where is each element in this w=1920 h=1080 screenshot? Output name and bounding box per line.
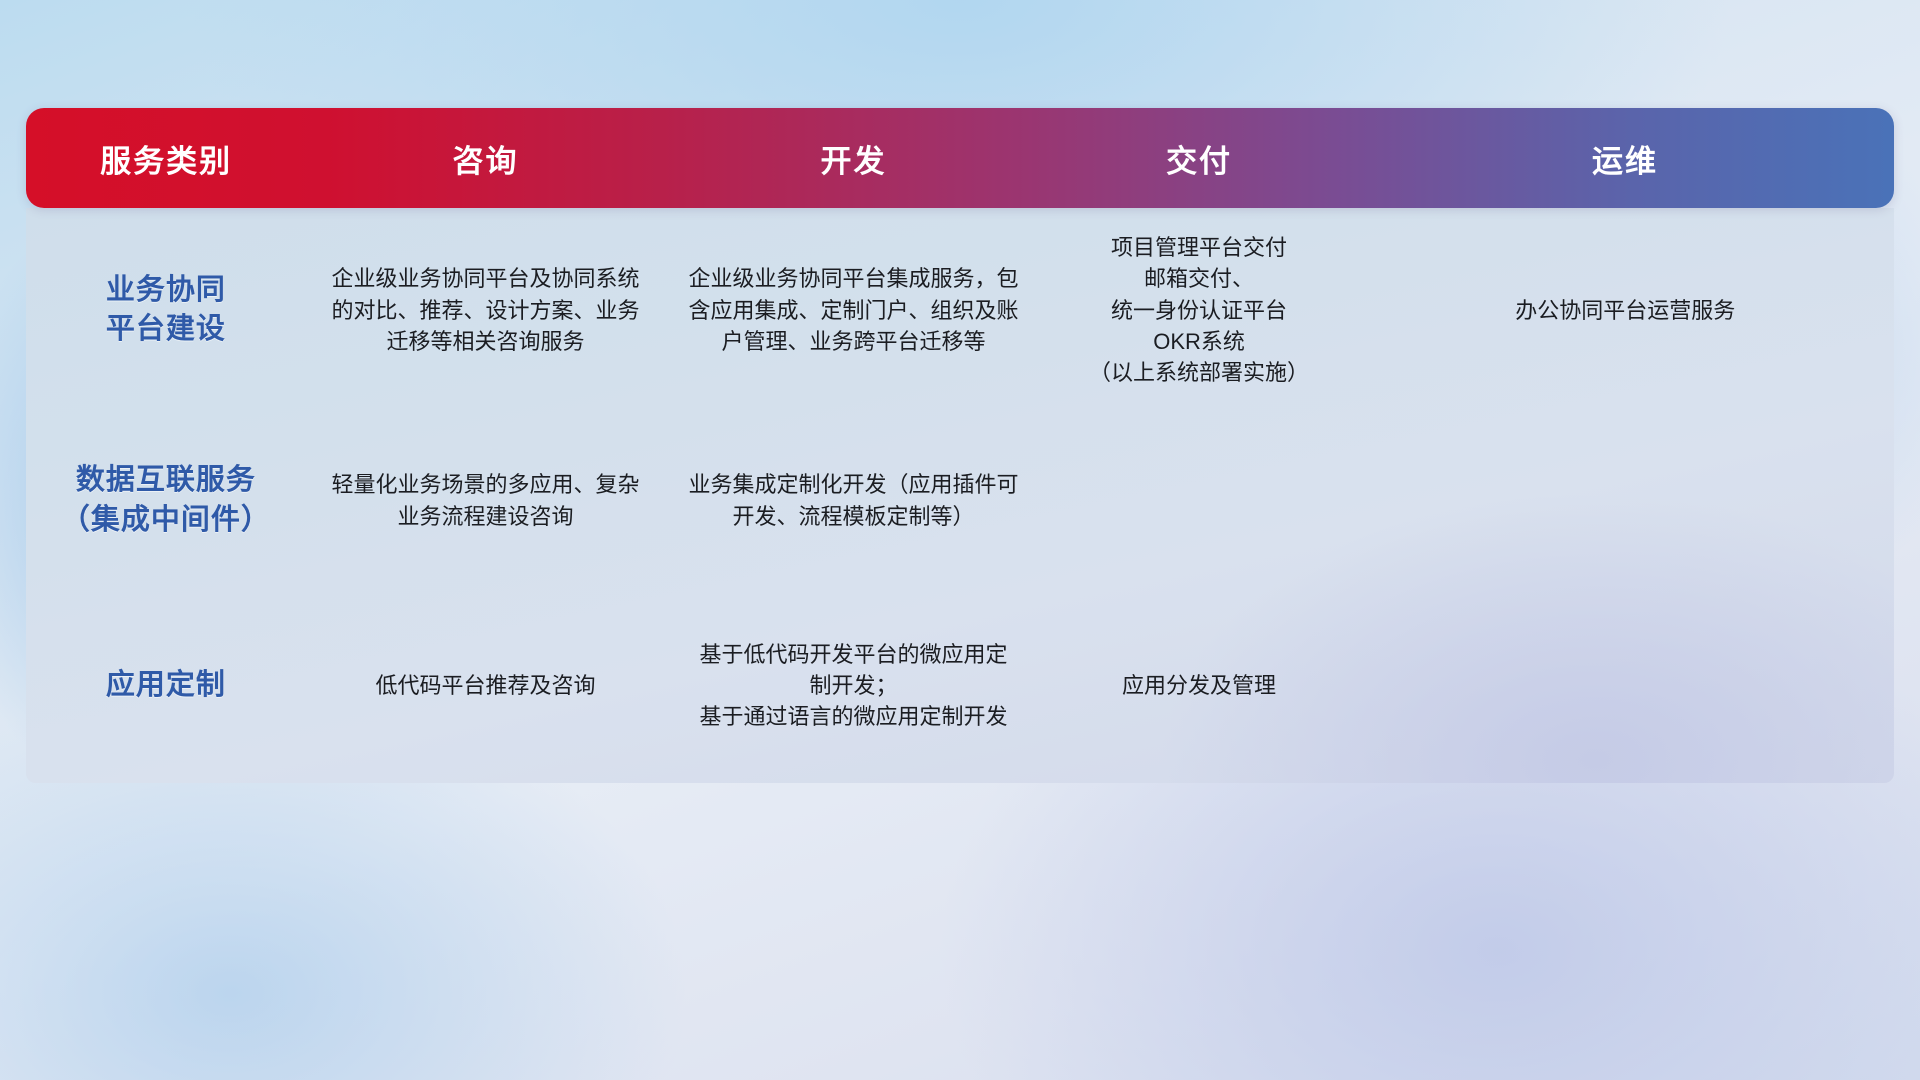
row-label: 应用定制 <box>106 669 226 701</box>
delivery-line-4: OKR系统 <box>1059 326 1340 357</box>
row-label-line-1: 业务协同 <box>42 271 290 310</box>
table-head: 服务类别 咨询 开发 交付 运维 <box>26 108 1894 208</box>
cell-delivery: 项目管理平台交付 邮箱交付、 统一身份认证平台 OKR系统 （以上系统部署实施） <box>1042 208 1356 413</box>
table-row: 应用定制 低代码平台推荐及咨询 基于低代码开发平台的微应用定 制开发； 基于通过… <box>26 588 1894 783</box>
delivery-line-2: 邮箱交付、 <box>1059 263 1340 294</box>
cell-consulting: 轻量化业务场景的多应用、复杂业务流程建设咨询 <box>306 413 665 588</box>
development-line-3: 基于通过语言的微应用定制开发 <box>681 701 1025 732</box>
cell-delivery: 应用分发及管理 <box>1042 588 1356 783</box>
row-label: 数据互联服务 （集成中间件） <box>42 461 290 539</box>
delivery-line-1: 项目管理平台交付 <box>1059 232 1340 263</box>
cell-development: 业务集成定制化开发（应用插件可开发、流程模板定制等） <box>665 413 1042 588</box>
development-line-1: 基于低代码开发平台的微应用定 <box>681 639 1025 670</box>
column-header-operations[interactable]: 运维 <box>1356 108 1894 208</box>
row-label-line-2: （集成中间件） <box>42 501 290 540</box>
table-row: 业务协同 平台建设 企业级业务协同平台及协同系统的对比、推荐、设计方案、业务迁移… <box>26 208 1894 413</box>
cell-operations <box>1356 413 1894 588</box>
row-label-cell: 业务协同 平台建设 <box>26 208 306 413</box>
cell-operations <box>1356 588 1894 783</box>
table-body: 业务协同 平台建设 企业级业务协同平台及协同系统的对比、推荐、设计方案、业务迁移… <box>26 208 1894 783</box>
row-label-line-2: 平台建设 <box>42 310 290 349</box>
row-label-line-1: 数据互联服务 <box>42 461 290 500</box>
cell-consulting: 低代码平台推荐及咨询 <box>306 588 665 783</box>
row-label-cell: 数据互联服务 （集成中间件） <box>26 413 306 588</box>
cell-development: 企业级业务协同平台集成服务，包含应用集成、定制门户、组织及账户管理、业务跨平台迁… <box>665 208 1042 413</box>
cell-consulting: 企业级业务协同平台及协同系统的对比、推荐、设计方案、业务迁移等相关咨询服务 <box>306 208 665 413</box>
cell-operations: 办公协同平台运营服务 <box>1356 208 1894 413</box>
row-label-cell: 应用定制 <box>26 588 306 783</box>
service-matrix-table: 服务类别 咨询 开发 交付 运维 业务协同 平台建设 企业级业务协同平台及协同系… <box>26 108 1894 783</box>
delivery-line-5: （以上系统部署实施） <box>1059 357 1340 388</box>
development-line-2: 制开发； <box>681 670 1025 701</box>
column-header-consulting[interactable]: 咨询 <box>306 108 665 208</box>
service-table: 服务类别 咨询 开发 交付 运维 业务协同 平台建设 企业级业务协同平台及协同系… <box>26 108 1894 783</box>
column-header-delivery[interactable]: 交付 <box>1042 108 1356 208</box>
header-row: 服务类别 咨询 开发 交付 运维 <box>26 108 1894 208</box>
row-label: 业务协同 平台建设 <box>42 271 290 349</box>
table-row: 数据互联服务 （集成中间件） 轻量化业务场景的多应用、复杂业务流程建设咨询 业务… <box>26 413 1894 588</box>
column-header-category[interactable]: 服务类别 <box>26 108 306 208</box>
cell-delivery <box>1042 413 1356 588</box>
cell-development: 基于低代码开发平台的微应用定 制开发； 基于通过语言的微应用定制开发 <box>665 588 1042 783</box>
column-header-development[interactable]: 开发 <box>665 108 1042 208</box>
delivery-line-3: 统一身份认证平台 <box>1059 295 1340 326</box>
